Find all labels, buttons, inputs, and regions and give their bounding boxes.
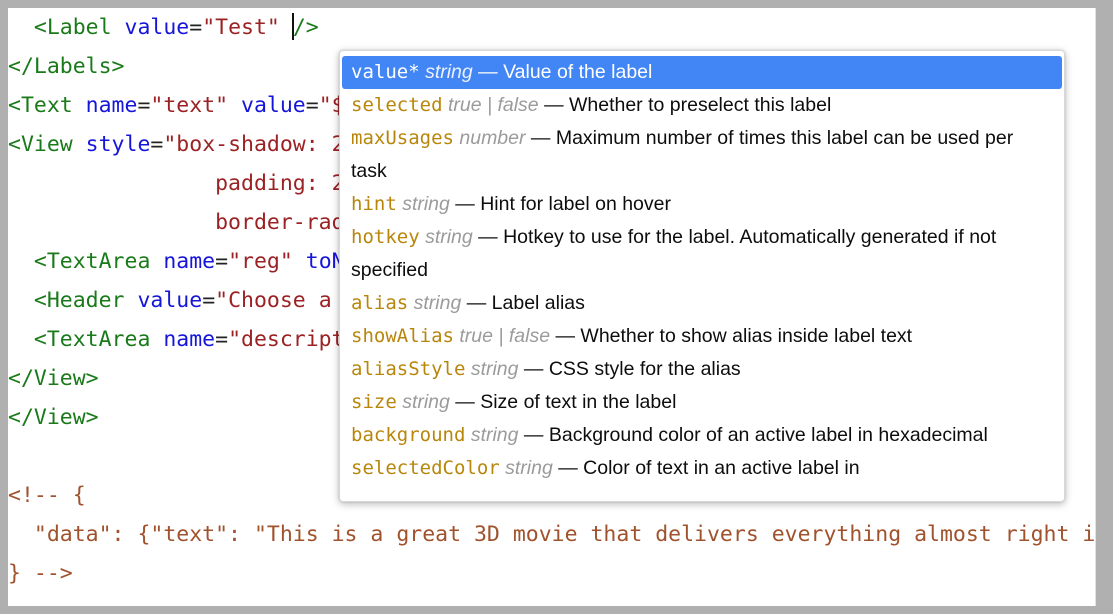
code-token-plain: = [150, 132, 163, 157]
autocomplete-item-description: Color of text in an active label in [583, 457, 859, 479]
autocomplete-item-type: string [425, 61, 473, 83]
autocomplete-item[interactable]: size string — Size of text in the label [342, 386, 1062, 419]
autocomplete-item-description: Whether to show alias inside label text [580, 325, 912, 347]
autocomplete-item[interactable]: maxUsages number — Maximum number of tim… [342, 122, 1062, 188]
code-token-tag: <Header [34, 288, 138, 313]
code-token-plain: = [137, 93, 150, 118]
code-token-com: <!-- { [8, 483, 86, 508]
autocomplete-item-name: hint [351, 193, 397, 215]
autocomplete-item-dash: — [455, 391, 475, 413]
code-token-plain [8, 249, 34, 274]
code-token-plain: = [306, 93, 319, 118]
app-root: <Label value="Test" /></Labels><Text nam… [0, 0, 1113, 614]
code-token-str: "reg" [228, 249, 293, 274]
code-token-plain [8, 15, 34, 40]
code-token-tag: <TextArea [34, 249, 163, 274]
autocomplete-item[interactable]: hint string — Hint for label on hover [342, 188, 1062, 221]
attribute-autocomplete-popup[interactable]: value* string — Value of the labelselect… [339, 50, 1065, 502]
code-token-str: "Test" [202, 15, 280, 40]
code-token-plain [228, 93, 241, 118]
autocomplete-item-description: CSS style for the alias [549, 358, 741, 380]
code-token-str: "text" [150, 93, 228, 118]
autocomplete-item-dash: — [455, 193, 475, 215]
autocomplete-item-dash: — [544, 94, 564, 116]
code-line: } --> [8, 554, 1096, 593]
autocomplete-item-type: string [414, 292, 462, 314]
code-token-plain [8, 288, 34, 313]
autocomplete-item-dash: — [467, 292, 487, 314]
autocomplete-item-name: selected [351, 94, 443, 116]
autocomplete-item[interactable]: aliasStyle string — CSS style for the al… [342, 353, 1062, 386]
code-token-attr: name [163, 249, 215, 274]
code-token-tag: /> [293, 15, 319, 40]
code-token-attr: value [137, 288, 202, 313]
autocomplete-item-type: number [459, 127, 525, 149]
code-line: <Label value="Test" /> [8, 8, 1096, 47]
autocomplete-item-name: aliasStyle [351, 358, 465, 380]
autocomplete-item-name: selectedColor [351, 457, 500, 479]
code-token-attr: name [163, 327, 215, 352]
autocomplete-item-name: background [351, 424, 465, 446]
code-line: "data": {"text": "This is a great 3D mov… [8, 515, 1096, 554]
code-token-attr: value [241, 93, 306, 118]
code-token-com: } --> [8, 561, 73, 586]
autocomplete-item-dash: — [478, 226, 498, 248]
autocomplete-item-dash: — [558, 457, 578, 479]
code-token-tag: </View> [8, 405, 99, 430]
autocomplete-item-name: size [351, 391, 397, 413]
autocomplete-item-name: maxUsages [351, 127, 454, 149]
autocomplete-item-dash: — [556, 325, 576, 347]
autocomplete-item-type: string [505, 457, 553, 479]
autocomplete-item[interactable]: background string — Background color of … [342, 419, 1062, 452]
autocomplete-item-type: string [425, 226, 473, 248]
autocomplete-item-name: showAlias [351, 325, 454, 347]
autocomplete-item-name: alias [351, 292, 408, 314]
autocomplete-item-dash: — [531, 127, 551, 149]
autocomplete-item-type: true | false [459, 325, 550, 347]
autocomplete-item-type: string [402, 391, 450, 413]
autocomplete-item-description: Whether to preselect this label [569, 94, 831, 116]
autocomplete-item-description: Label alias [492, 292, 585, 314]
code-token-plain [8, 327, 34, 352]
autocomplete-item-type: true | false [448, 94, 539, 116]
code-token-tag: </View> [8, 366, 99, 391]
autocomplete-item-type: string [471, 358, 519, 380]
autocomplete-item-dash: — [478, 61, 498, 83]
autocomplete-item-dash: — [524, 424, 544, 446]
code-token-attr: style [86, 132, 151, 157]
autocomplete-item-description: Value of the label [503, 61, 652, 83]
autocomplete-item-dash: — [524, 358, 544, 380]
code-token-plain [293, 249, 306, 274]
autocomplete-item-name: hotkey [351, 226, 420, 248]
code-token-tag: <Text [8, 93, 86, 118]
autocomplete-item[interactable]: showAlias true | false — Whether to show… [342, 320, 1062, 353]
code-token-plain: = [215, 327, 228, 352]
code-token-com: "data": {"text": "This is a great 3D mov… [8, 522, 1096, 547]
code-token-attr: value [125, 15, 190, 40]
code-token-tag: </Labels> [8, 54, 125, 79]
autocomplete-item[interactable]: selected true | false — Whether to prese… [342, 89, 1062, 122]
autocomplete-item[interactable]: hotkey string — Hotkey to use for the la… [342, 221, 1062, 287]
autocomplete-item[interactable]: selectedColor string — Color of text in … [342, 452, 1062, 485]
code-token-tag: <Label [34, 15, 125, 40]
code-token-plain: = [189, 15, 202, 40]
autocomplete-item-description: Size of text in the label [480, 391, 676, 413]
autocomplete-item-name: value* [351, 61, 420, 83]
autocomplete-item-description: Hint for label on hover [480, 193, 671, 215]
autocomplete-item[interactable]: value* string — Value of the label [342, 56, 1062, 89]
code-token-plain: = [215, 249, 228, 274]
code-token-attr: name [86, 93, 138, 118]
autocomplete-item-type: string [471, 424, 519, 446]
code-token-tag: <View [8, 132, 86, 157]
code-token-tag: <TextArea [34, 327, 163, 352]
autocomplete-item-type: string [402, 193, 450, 215]
code-token-plain: = [202, 288, 215, 313]
autocomplete-item-description: Background color of an active label in h… [549, 424, 988, 446]
autocomplete-item[interactable]: alias string — Label alias [342, 287, 1062, 320]
